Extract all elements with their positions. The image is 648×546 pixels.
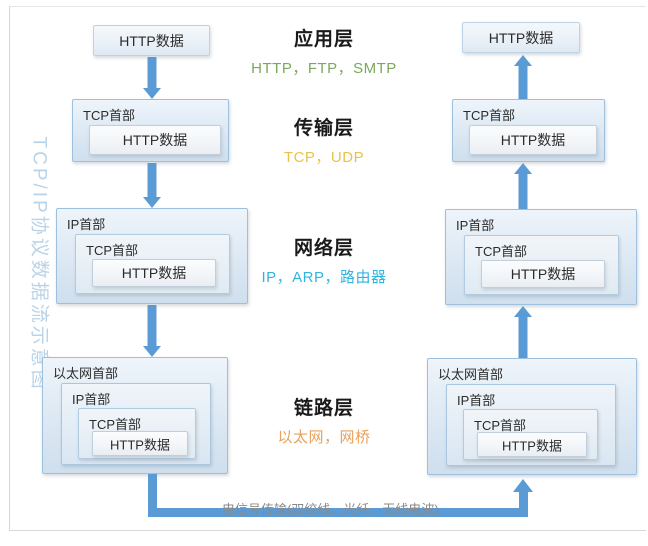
left-link-inner-transport-box: TCP首部 HTTP数据	[78, 408, 196, 459]
left-transport-box: TCP首部 HTTP数据	[72, 99, 229, 162]
right-network-payload-box: HTTP数据	[481, 260, 605, 288]
left-network-header-label: IP首部	[67, 214, 105, 233]
right-application-payload-label: HTTP数据	[463, 28, 579, 48]
right-link-inner-network-box: IP首部 TCP首部 HTTP数据	[446, 384, 616, 466]
layer-label-transport: 传输层 TCP，UDP	[209, 113, 439, 167]
left-network-payload-box: HTTP数据	[92, 259, 216, 287]
left-arrow-transport-to-network	[142, 163, 162, 208]
physical-medium-caption: 电信号传输(双绞线、光纤、无线电波)	[222, 499, 439, 518]
left-link-second-header-label: IP首部	[72, 389, 110, 408]
diagram-side-title: TCP/IP协议数据流示意图	[28, 137, 55, 367]
connector-arrowhead-icon	[513, 479, 533, 492]
left-transport-header-label: TCP首部	[83, 105, 135, 124]
right-arrow-link-to-network	[513, 306, 533, 358]
left-link-header-label: 以太网首部	[53, 363, 118, 382]
right-arrow-transport-to-app	[513, 55, 533, 99]
right-application-data-box: HTTP数据	[462, 22, 580, 53]
layer-label-link: 链路层 以太网，网桥	[209, 393, 439, 447]
tcpip-flow-diagram: TCP/IP协议数据流示意图 HTTP数据 TCP首部 HTTP数据 IP首部 …	[0, 0, 648, 546]
layer-name-link: 链路层	[209, 393, 439, 420]
left-network-inner-header-label: TCP首部	[86, 240, 138, 259]
right-arrow-network-to-transport	[513, 163, 533, 209]
layer-label-network: 网络层 IP，ARP，路由器	[209, 233, 439, 287]
left-arrow-network-to-link	[142, 305, 162, 357]
right-transport-box: TCP首部 HTTP数据	[452, 99, 605, 162]
right-network-inner-header-label: TCP首部	[475, 241, 527, 260]
layer-name-transport: 传输层	[209, 113, 439, 140]
right-transport-payload-label: HTTP数据	[470, 130, 596, 150]
right-network-inner-transport-box: TCP首部 HTTP数据	[464, 235, 619, 295]
right-link-box: 以太网首部 IP首部 TCP首部 HTTP数据	[427, 358, 637, 475]
right-network-box: IP首部 TCP首部 HTTP数据	[445, 209, 637, 305]
layer-protocols-application: HTTP，FTP，SMTP	[209, 57, 439, 78]
left-network-payload-label: HTTP数据	[93, 263, 215, 283]
right-network-header-label: IP首部	[456, 215, 494, 234]
left-link-box: 以太网首部 IP首部 TCP首部 HTTP数据	[42, 357, 228, 474]
right-transport-header-label: TCP首部	[463, 105, 515, 124]
left-application-data-box: HTTP数据	[93, 25, 210, 56]
left-transport-payload-box: HTTP数据	[89, 125, 221, 155]
right-link-header-label: 以太网首部	[438, 364, 503, 383]
layer-name-application: 应用层	[209, 24, 439, 51]
right-link-payload-label: HTTP数据	[478, 435, 586, 454]
layer-name-network: 网络层	[209, 233, 439, 260]
right-transport-payload-box: HTTP数据	[469, 125, 597, 155]
left-network-inner-transport-box: TCP首部 HTTP数据	[75, 234, 230, 294]
right-network-payload-label: HTTP数据	[482, 264, 604, 284]
right-link-second-header-label: IP首部	[457, 390, 495, 409]
left-arrow-app-to-transport	[142, 57, 162, 99]
right-link-inner-transport-box: TCP首部 HTTP数据	[463, 409, 598, 460]
connector-right-vertical	[519, 492, 528, 517]
layer-protocols-transport: TCP，UDP	[209, 146, 439, 167]
left-application-payload-label: HTTP数据	[94, 31, 209, 51]
layer-protocols-link: 以太网，网桥	[209, 426, 439, 447]
left-link-inner-network-box: IP首部 TCP首部 HTTP数据	[61, 383, 211, 465]
left-link-payload-box: HTTP数据	[92, 431, 188, 456]
left-link-payload-label: HTTP数据	[93, 434, 187, 453]
layer-label-application: 应用层 HTTP，FTP，SMTP	[209, 24, 439, 78]
layer-protocols-network: IP，ARP，路由器	[209, 266, 439, 287]
left-transport-payload-label: HTTP数据	[90, 130, 220, 150]
right-link-payload-box: HTTP数据	[477, 432, 587, 457]
